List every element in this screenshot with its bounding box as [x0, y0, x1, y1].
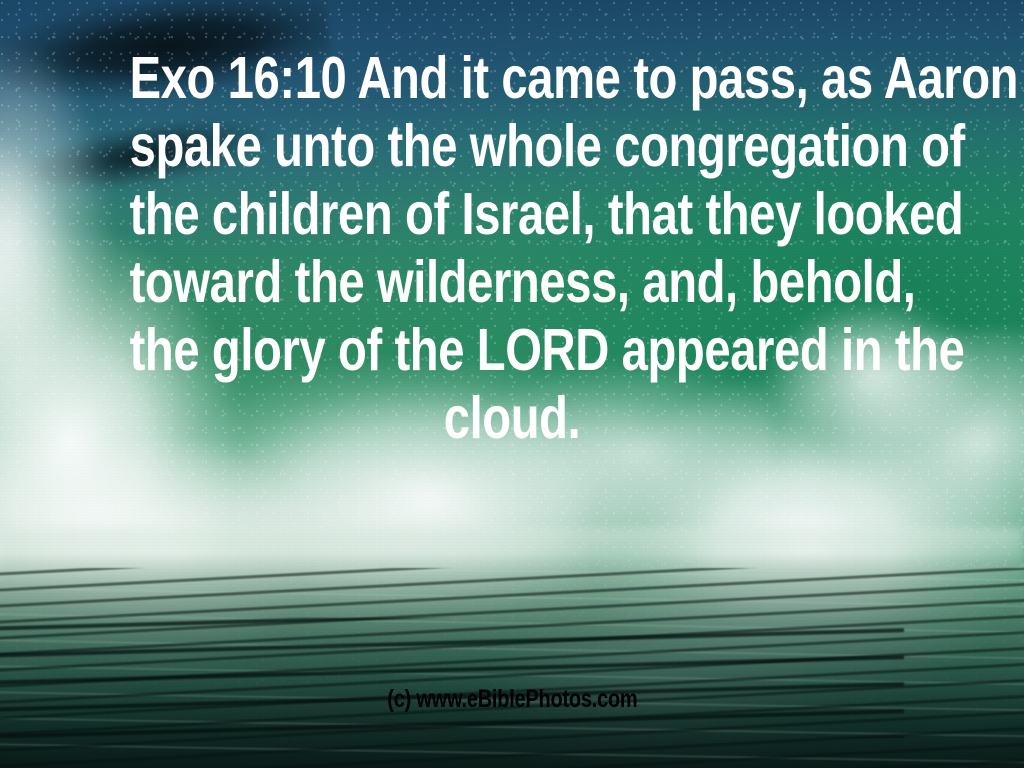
- verse-text-block: Exo 16:10 And it came to pass, as Aaron …: [0, 44, 1024, 452]
- verse-line-3: the children of Israel, that they looked: [130, 180, 895, 248]
- verse-line-4: toward the wilderness, and, behold,: [130, 248, 895, 316]
- verse-line-5: the glory of the LORD appeared in the: [130, 316, 895, 384]
- verse-line-6: cloud.: [130, 384, 895, 452]
- verse-image-canvas: Exo 16:10 And it came to pass, as Aaron …: [0, 0, 1024, 768]
- verse-line-2: spake unto the whole congregation of: [130, 112, 895, 180]
- copyright-credit-text: (c) www.eBiblePhotos.com: [387, 686, 637, 712]
- copyright-credit: (c) www.eBiblePhotos.com: [0, 686, 1024, 712]
- verse-line-1: Exo 16:10 And it came to pass, as Aaron: [130, 44, 895, 112]
